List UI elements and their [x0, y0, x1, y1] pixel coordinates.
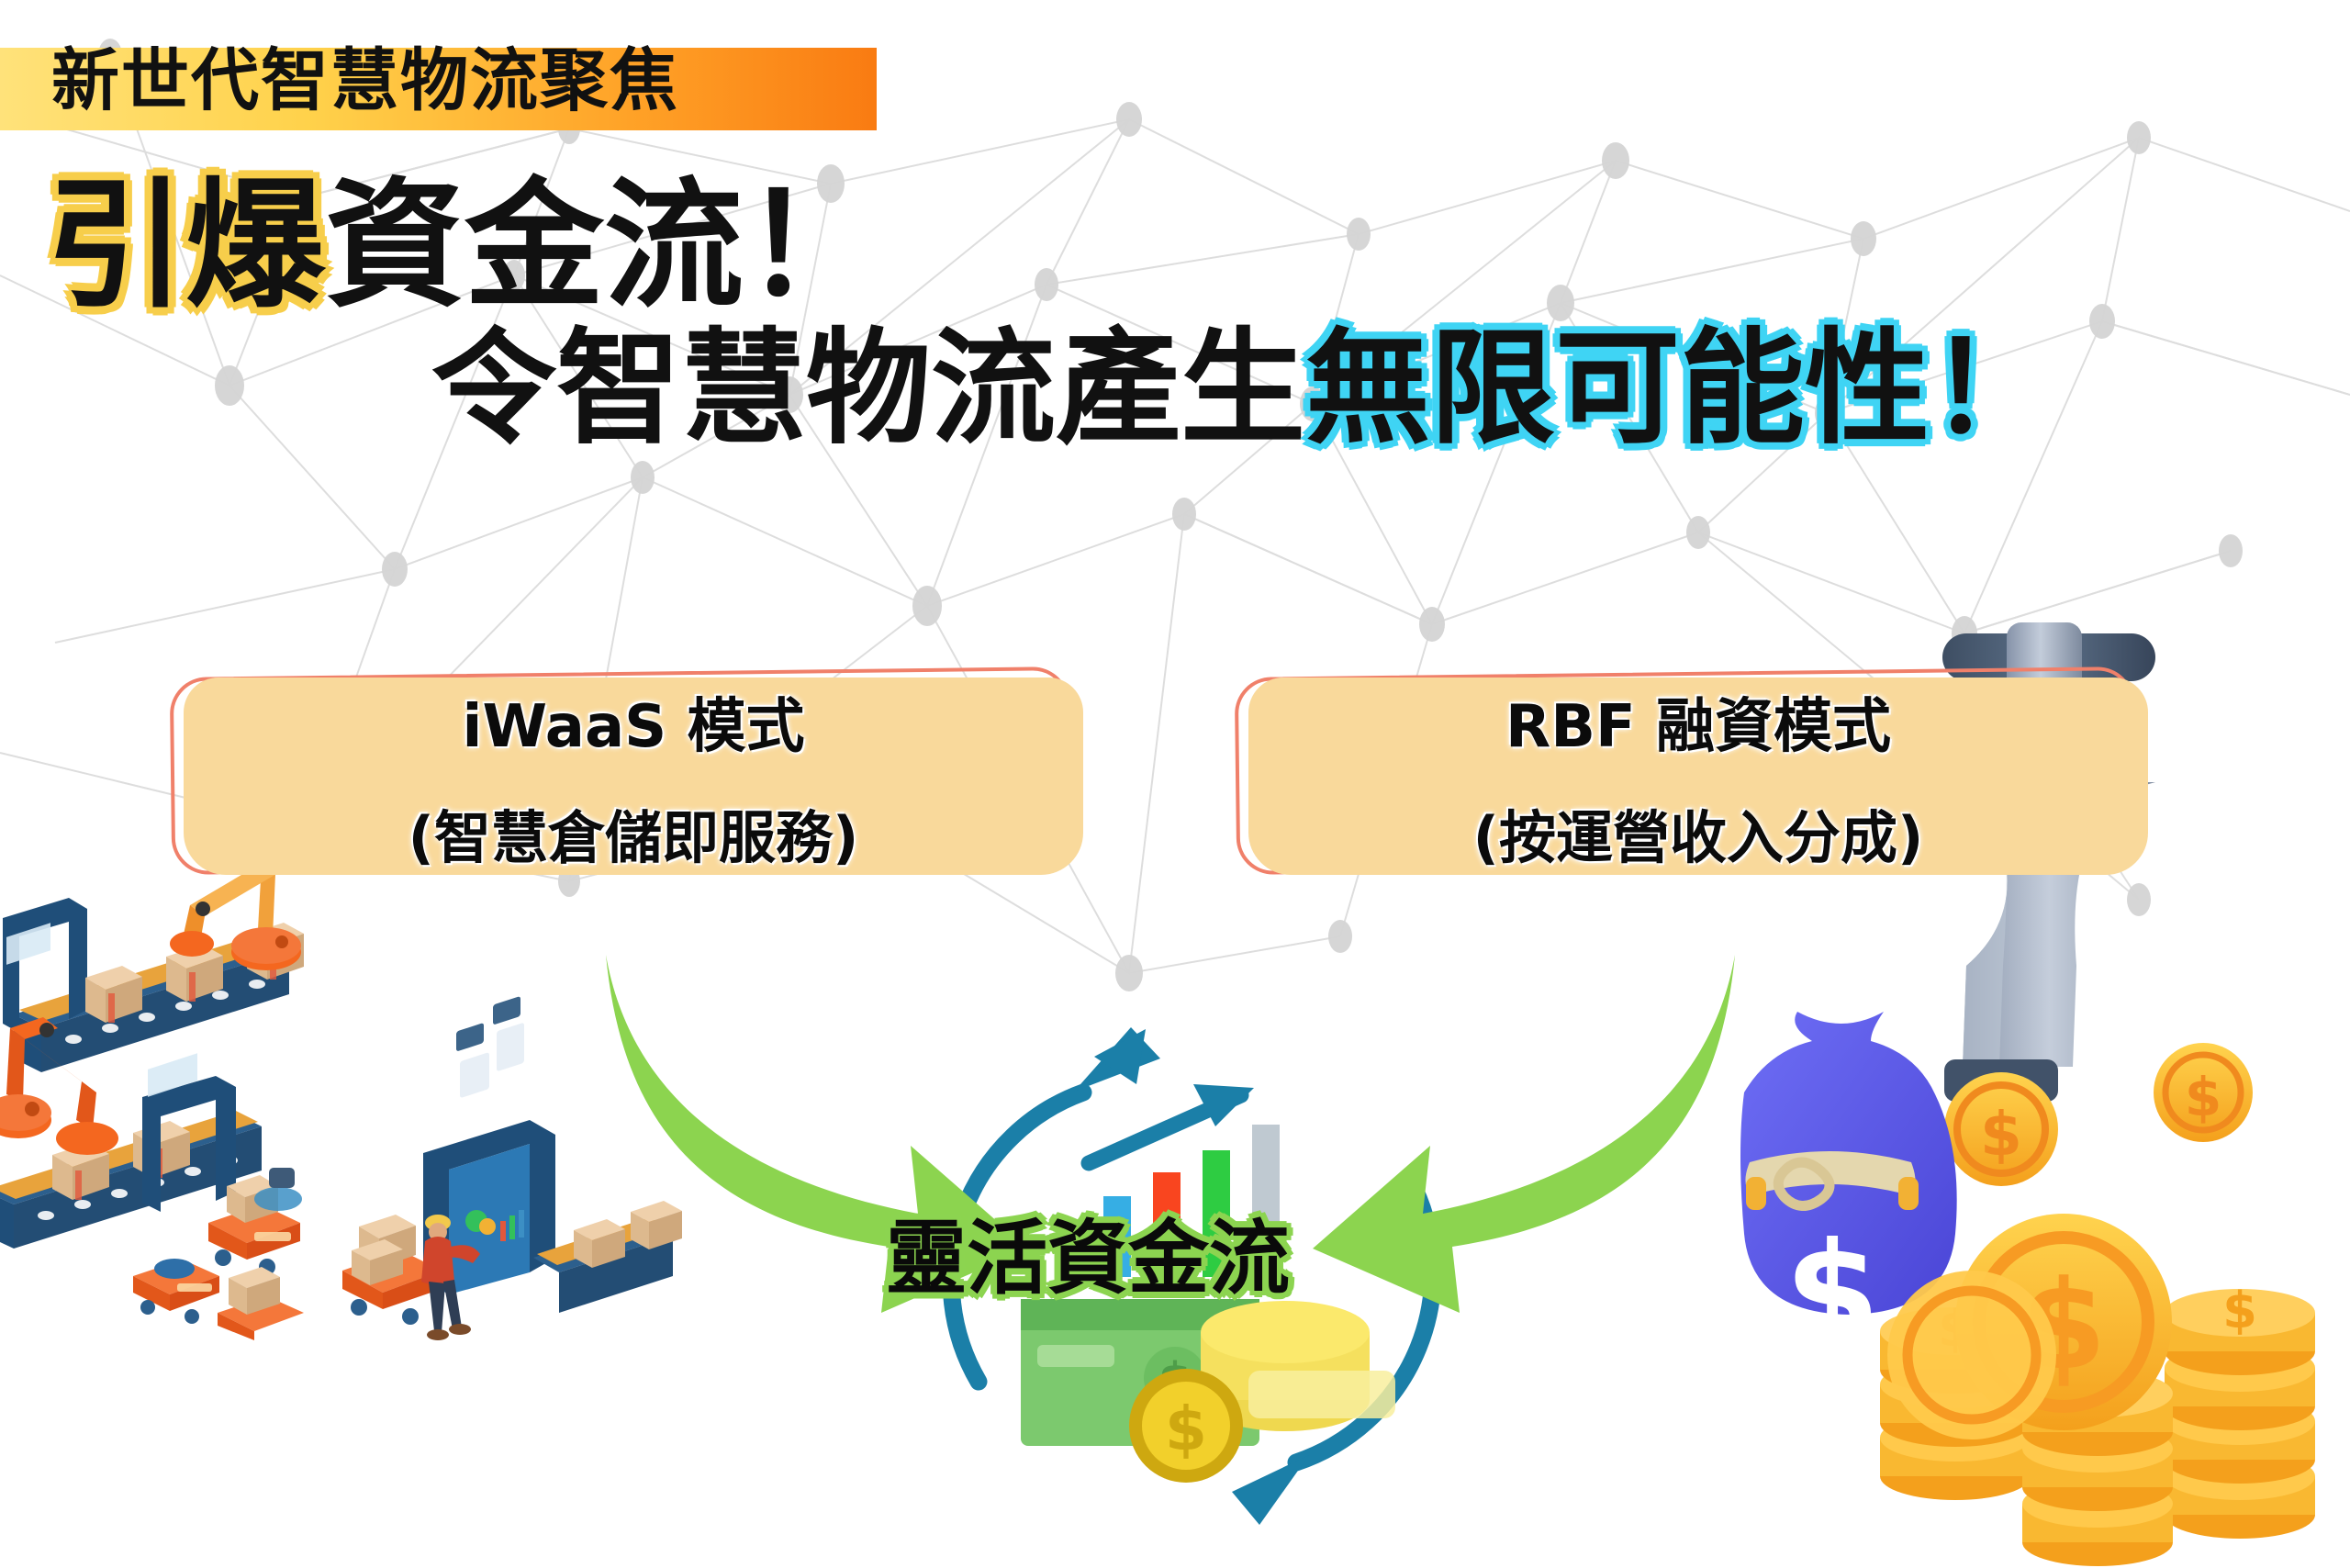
rbf-card[interactable]: RBF 融資模式 (按運營收入分成): [1248, 678, 2148, 875]
iwaas-card-subtitle: (智慧倉儲即服務): [408, 791, 859, 874]
rbf-card-title: RBF 融資模式: [1505, 679, 1891, 764]
iwaas-card[interactable]: iWaaS 模式 (智慧倉儲即服務): [184, 678, 1083, 875]
svg-text:$: $: [1165, 1394, 1207, 1464]
infographic-canvas: 新世代智慧物流聚焦 引爆資金流！ 令智慧物流產生無限可能性！: [0, 0, 2350, 1568]
headline-line-2: 令智慧物流產生無限可能性！: [431, 326, 2054, 454]
iwaas-card-title: iWaaS 模式: [463, 679, 805, 764]
headline-line1-rest: 資金流！: [325, 164, 883, 327]
hub-label: 靈活資金流: [886, 1193, 1290, 1310]
headline-highlight-gold: 引爆: [46, 164, 325, 327]
flow-arrow-right-icon: [1313, 955, 1735, 1313]
rbf-card-subtitle: (按運營收入分成): [1473, 791, 1924, 874]
headline-line2-plain: 令智慧物流產生: [431, 317, 1305, 462]
headline-highlight-cyan: 無限可能性！: [1305, 317, 2054, 462]
headline-line-1: 引爆資金流！: [46, 174, 883, 317]
cycle-arrow-head-bottom: [1232, 1455, 1309, 1525]
banner-label: 新世代智慧物流聚焦: [51, 26, 679, 124]
